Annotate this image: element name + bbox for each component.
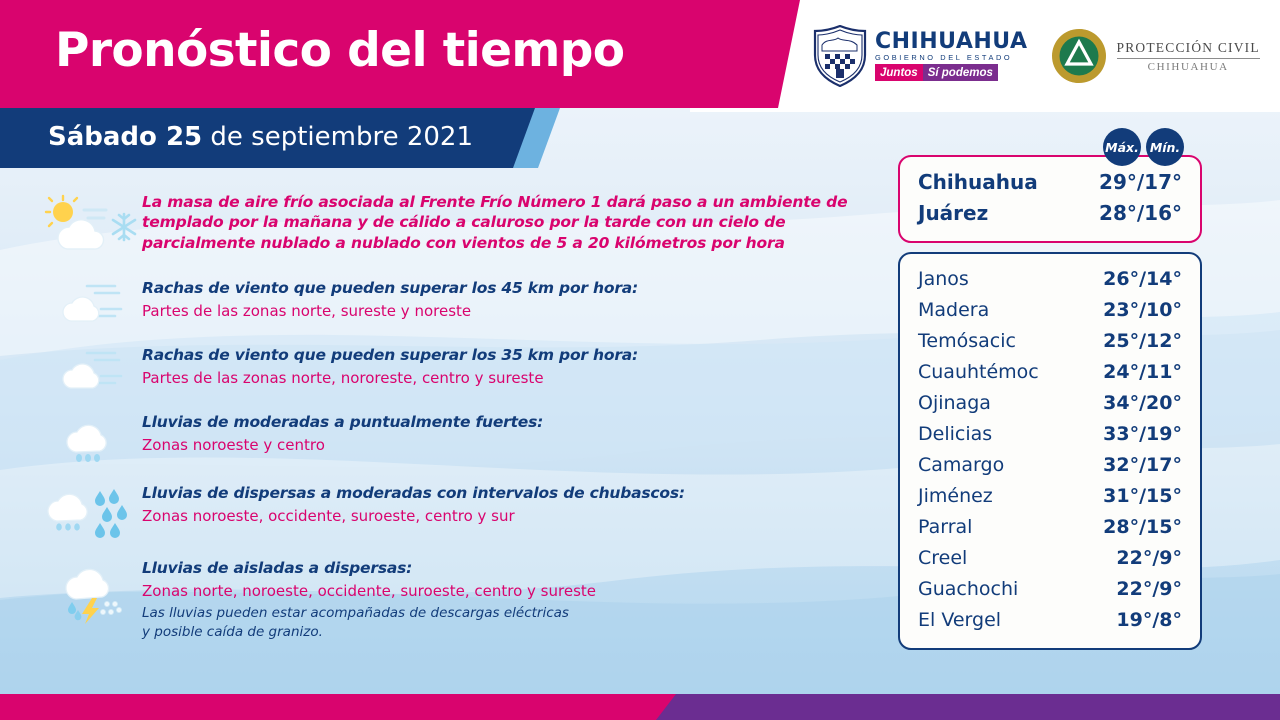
chihuahua-state-shield-icon — [812, 25, 868, 87]
forecast-icon-cell — [42, 481, 142, 539]
tag-si-podemos: Sí podemos — [923, 64, 998, 81]
thunderstorm-hail-icon — [52, 558, 132, 624]
city-name: Delicias — [918, 419, 992, 450]
forecast-summary-text: La masa de aire frío asociada al Frente … — [142, 192, 852, 253]
city-temp: 22°/9° — [1116, 574, 1182, 605]
city-name: Madera — [918, 295, 989, 326]
forecast-summary-row: La masa de aire frío asociada al Frente … — [42, 190, 852, 254]
city-temp: 31°/15° — [1103, 481, 1182, 512]
cities-panel: Janos 26°/14° Madera 23°/10° Temósacic 2… — [898, 252, 1202, 650]
table-row: Cuauhtémoc 24°/11° — [918, 357, 1182, 388]
chihuahua-government-logo: CHIHUAHUA GOBIERNO DEL ESTADO Juntos Sí … — [812, 25, 1028, 87]
forecast-item-title: Rachas de viento que pueden superar los … — [142, 278, 852, 298]
cloud-rain-showers-icon — [44, 483, 140, 539]
city-name: Camargo — [918, 450, 1004, 481]
date-day: Sábado 25 — [48, 122, 202, 152]
table-row: Janos 26°/14° — [918, 264, 1182, 295]
table-row: Madera 23°/10° — [918, 295, 1182, 326]
forecast-item-title: Lluvias de aisladas a dispersas: — [142, 558, 852, 578]
cloud-wind-icon — [57, 345, 127, 393]
logo-divider — [1117, 58, 1260, 59]
civil-protection-emblem-icon — [1050, 27, 1108, 85]
forecast-item: Lluvias de dispersas a moderadas con int… — [42, 481, 852, 539]
proteccion-civil-name: PROTECCIÓN CIVIL — [1117, 40, 1260, 56]
city-temp: 19°/8° — [1116, 605, 1182, 636]
date-rest: de septiembre 2021 — [202, 122, 473, 152]
forecast-icon-cell — [42, 556, 142, 624]
table-row: Delicias 33°/19° — [918, 419, 1182, 450]
city-temp: 28°/16° — [1099, 198, 1182, 229]
city-temp: 22°/9° — [1116, 543, 1182, 574]
forecast-date: Sábado 25 de septiembre 2021 — [48, 122, 473, 152]
forecast-item-title: Lluvias de moderadas a puntualmente fuer… — [142, 412, 852, 432]
city-name: Jiménez — [918, 481, 993, 512]
cloud-light-rain-icon — [57, 412, 127, 464]
forecast-item: Lluvias de aisladas a dispersas: Zonas n… — [42, 556, 852, 641]
city-name: Juárez — [918, 198, 988, 229]
city-name: Creel — [918, 543, 967, 574]
city-temp: 34°/20° — [1103, 388, 1182, 419]
footer-bar — [0, 694, 1280, 720]
forecast-list: La masa de aire frío asociada al Frente … — [42, 190, 852, 641]
forecast-item: Rachas de viento que pueden superar los … — [42, 276, 852, 326]
min-badge: Mín. — [1146, 128, 1184, 166]
city-temp: 25°/12° — [1103, 326, 1182, 357]
city-name: Parral — [918, 512, 972, 543]
city-name: Chihuahua — [918, 167, 1038, 198]
city-temp: 26°/14° — [1103, 264, 1182, 295]
forecast-item: Lluvias de moderadas a puntualmente fuer… — [42, 410, 852, 464]
chihuahua-wordmark: CHIHUAHUA — [875, 31, 1028, 53]
table-row: Chihuahua 29°/17° — [918, 167, 1182, 198]
city-name: Cuauhtémoc — [918, 357, 1039, 388]
forecast-item-title: Lluvias de dispersas a moderadas con int… — [142, 483, 852, 503]
proteccion-civil-subtitle: CHIHUAHUA — [1148, 61, 1229, 73]
forecast-item-title: Rachas de viento que pueden superar los … — [142, 345, 852, 365]
city-name: Temósacic — [918, 326, 1016, 357]
forecast-item-body: Rachas de viento que pueden superar los … — [142, 276, 852, 321]
sun-cloud-wind-snowflake-icon — [44, 192, 140, 254]
forecast-item-body: Lluvias de dispersas a moderadas con int… — [142, 481, 852, 526]
logo-group: CHIHUAHUA GOBIERNO DEL ESTADO Juntos Sí … — [812, 14, 1260, 98]
tag-juntos: Juntos — [875, 64, 923, 81]
table-row: Camargo 32°/17° — [918, 450, 1182, 481]
city-temp: 28°/15° — [1103, 512, 1182, 543]
city-name: El Vergel — [918, 605, 1001, 636]
city-temp: 33°/19° — [1103, 419, 1182, 450]
city-name: Ojinaga — [918, 388, 991, 419]
temperature-legend-badges: Máx. Mín. — [1103, 128, 1184, 166]
forecast-icon-cell — [42, 410, 142, 464]
forecast-summary-body: La masa de aire frío asociada al Frente … — [142, 190, 852, 253]
city-temp: 29°/17° — [1099, 167, 1182, 198]
forecast-item-zones: Zonas norte, noroeste, occidente, suroes… — [142, 581, 852, 601]
table-row: Jiménez 31°/15° — [918, 481, 1182, 512]
page-title: Pronóstico del tiempo — [55, 23, 624, 78]
city-temp: 24°/11° — [1103, 357, 1182, 388]
table-row: Temósacic 25°/12° — [918, 326, 1182, 357]
forecast-item-note: Las lluvias pueden estar acompañadas de … — [142, 604, 852, 640]
forecast-item-zones: Partes de las zonas norte, sureste y nor… — [142, 301, 852, 321]
table-row: Juárez 28°/16° — [918, 198, 1182, 229]
chihuahua-subtitle: GOBIERNO DEL ESTADO — [875, 54, 1028, 61]
city-temp: 32°/17° — [1103, 450, 1182, 481]
city-temp: 23°/10° — [1103, 295, 1182, 326]
forecast-item-zones: Partes de las zonas norte, nororeste, ce… — [142, 368, 852, 388]
main-cities-panel: Chihuahua 29°/17° Juárez 28°/16° — [898, 155, 1202, 243]
table-row: Ojinaga 34°/20° — [918, 388, 1182, 419]
forecast-item-zones: Zonas noroeste, occidente, suroeste, cen… — [142, 506, 852, 526]
table-row: Creel 22°/9° — [918, 543, 1182, 574]
forecast-icon-cell — [42, 343, 142, 393]
max-badge: Máx. — [1103, 128, 1141, 166]
forecast-item-zones: Zonas noroeste y centro — [142, 435, 852, 455]
city-name: Janos — [918, 264, 969, 295]
table-row: El Vergel 19°/8° — [918, 605, 1182, 636]
forecast-item-body: Rachas de viento que pueden superar los … — [142, 343, 852, 388]
proteccion-civil-logo: PROTECCIÓN CIVIL CHIHUAHUA — [1050, 27, 1260, 85]
forecast-item-body: Lluvias de aisladas a dispersas: Zonas n… — [142, 556, 852, 641]
juntos-si-podemos-tag: Juntos Sí podemos — [875, 64, 1028, 81]
forecast-icon-cell — [42, 190, 142, 254]
table-row: Parral 28°/15° — [918, 512, 1182, 543]
cloud-wind-icon — [57, 278, 127, 326]
city-name: Guachochi — [918, 574, 1018, 605]
forecast-icon-cell — [42, 276, 142, 326]
forecast-item: Rachas de viento que pueden superar los … — [42, 343, 852, 393]
table-row: Guachochi 22°/9° — [918, 574, 1182, 605]
forecast-item-body: Lluvias de moderadas a puntualmente fuer… — [142, 410, 852, 455]
footer-magenta-segment — [0, 694, 700, 720]
